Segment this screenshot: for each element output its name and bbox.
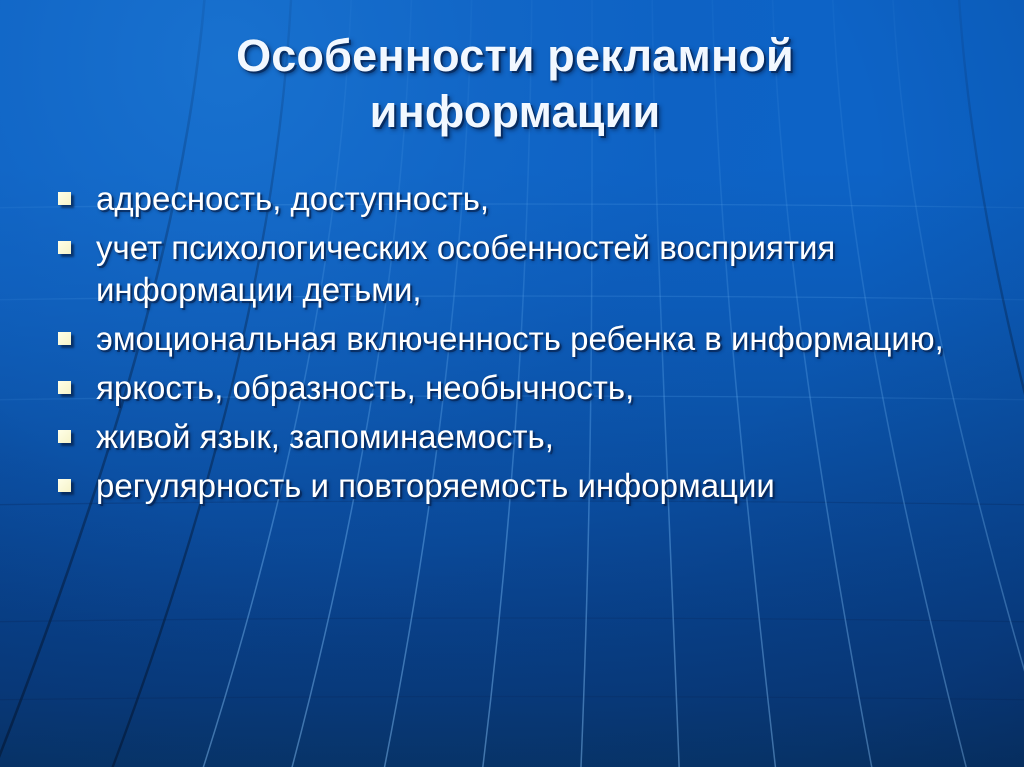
list-item: яркость, образность, необычность, [58, 367, 988, 409]
list-item: регулярность и повторяемость информации [58, 465, 988, 507]
slide-title: Особенности рекламной информации [110, 28, 920, 140]
list-item-label: яркость, образность, необычность, [96, 367, 988, 409]
list-item-label: эмоциональная включенность ребенка в инф… [96, 318, 988, 360]
list-item-label: живой язык, запоминаемость, [96, 416, 988, 458]
slide-title-line-1: Особенности рекламной [110, 28, 920, 84]
slide-bullet-list: адресность, доступность, учет психологич… [58, 178, 988, 514]
list-item: адресность, доступность, [58, 178, 988, 220]
list-item: живой язык, запоминаемость, [58, 416, 988, 458]
list-item: эмоциональная включенность ребенка в инф… [58, 318, 988, 360]
square-bullet-icon [58, 332, 71, 345]
slide-title-line-2: информации [110, 84, 920, 140]
list-item-label: учет психологических особенностей воспри… [96, 227, 988, 311]
presentation-slide: Особенности рекламной информации адресно… [0, 0, 1024, 767]
square-bullet-icon [58, 241, 71, 254]
square-bullet-icon [58, 381, 71, 394]
list-item-label: регулярность и повторяемость информации [96, 465, 988, 507]
square-bullet-icon [58, 479, 71, 492]
list-item: учет психологических особенностей воспри… [58, 227, 988, 311]
square-bullet-icon [58, 192, 71, 205]
square-bullet-icon [58, 430, 71, 443]
list-item-label: адресность, доступность, [96, 178, 988, 220]
